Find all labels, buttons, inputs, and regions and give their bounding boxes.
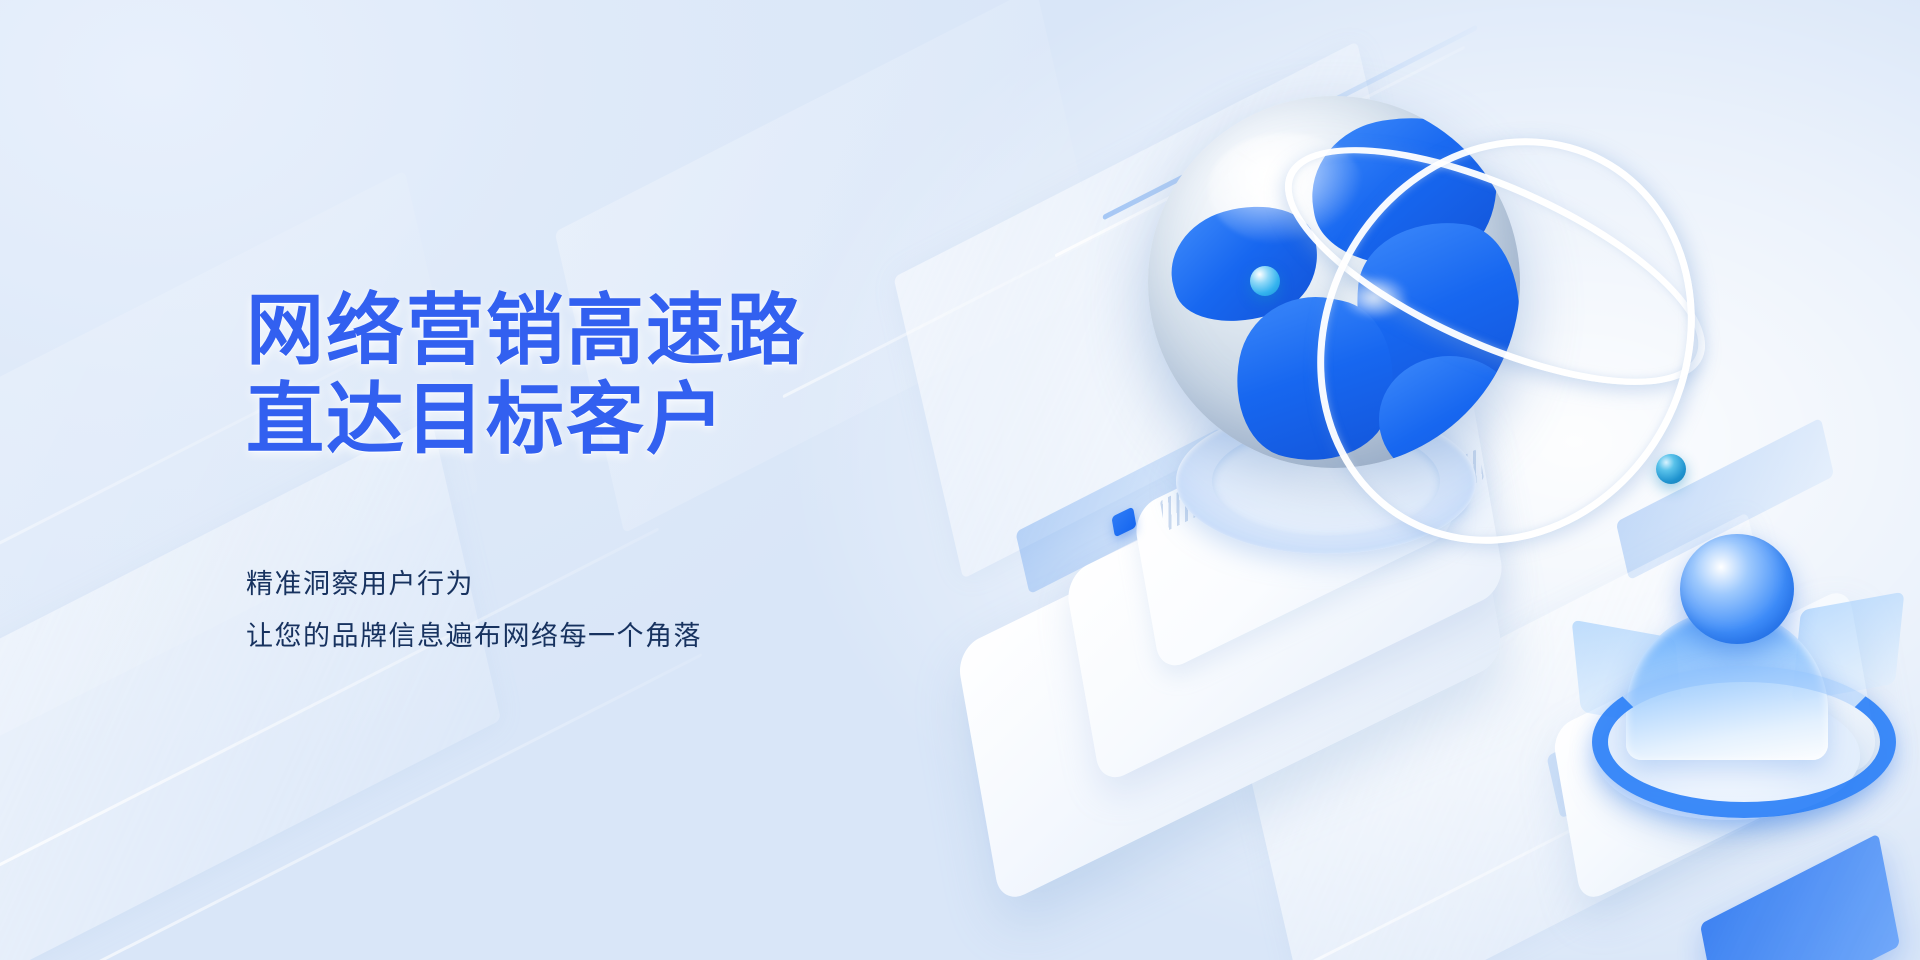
- user-avatar-icon: [1590, 540, 1890, 830]
- marketing-hero-banner: 网络营销高速路 直达目标客户 精准洞察用户行为 让您的品牌信息遍布网络每一个角落: [0, 0, 1920, 960]
- user-head-shape: [1680, 534, 1794, 644]
- headline-line-1: 网络营销高速路: [246, 286, 806, 374]
- nub-blue-left: [1111, 506, 1136, 537]
- user-orbit-ribbon: [1592, 666, 1896, 818]
- orbit-node-cyan-bottom: [1656, 454, 1686, 484]
- headline-line-2: 直达目标客户: [246, 375, 1006, 464]
- globe: [1148, 96, 1520, 468]
- subtitle-line-2: 让您的品牌信息遍布网络每一个角落: [246, 610, 1006, 663]
- orbit-node-cyan-top: [1250, 266, 1280, 296]
- bg-line-2: [78, 653, 702, 960]
- hero-copy: 网络营销高速路 直达目标客户 精准洞察用户行为 让您的品牌信息遍布网络每一个角落: [246, 286, 1006, 663]
- headline: 网络营销高速路 直达目标客户: [246, 286, 1006, 464]
- hero-illustration: [980, 60, 1920, 960]
- subtitle: 精准洞察用户行为 让您的品牌信息遍布网络每一个角落: [246, 558, 1006, 663]
- subtitle-line-1: 精准洞察用户行为: [246, 558, 1006, 611]
